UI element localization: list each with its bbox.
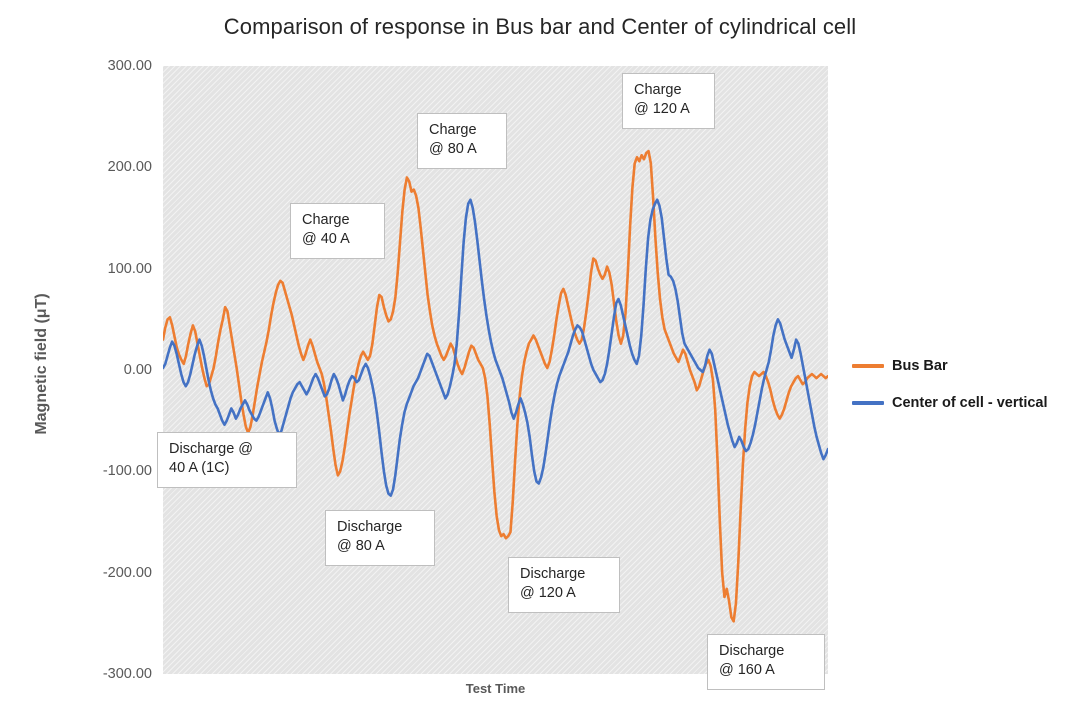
chart-container: Comparison of response in Bus bar and Ce…: [0, 0, 1080, 723]
chart-legend: Bus BarCenter of cell - vertical: [852, 358, 1078, 432]
y-axis-tick-label: -300.00: [76, 666, 152, 682]
chart-title: Comparison of response in Bus bar and Ce…: [0, 14, 1080, 40]
x-axis-title: Test Time: [163, 681, 828, 696]
annotation-charge-120a: Charge @ 120 A: [622, 73, 715, 129]
annotation-charge-40a: Charge @ 40 A: [290, 203, 385, 259]
legend-swatch-icon: [852, 364, 884, 368]
legend-swatch-icon: [852, 401, 884, 405]
legend-item-center-of-cell[interactable]: Center of cell - vertical: [852, 395, 1078, 411]
y-axis-tick-label: 0.00: [76, 362, 152, 378]
series-line-bus-bar: [163, 151, 828, 621]
y-axis-tick-label: 300.00: [76, 58, 152, 74]
y-axis-tick-labels: 300.00200.00100.000.00-100.00-200.00-300…: [76, 0, 152, 723]
legend-item-bus-bar[interactable]: Bus Bar: [852, 358, 1078, 374]
annotation-charge-80a: Charge @ 80 A: [417, 113, 507, 169]
annotation-discharge-40a: Discharge @ 40 A (1C): [157, 432, 297, 488]
y-axis-tick-label: 100.00: [76, 261, 152, 277]
annotation-discharge-120a: Discharge @ 120 A: [508, 557, 620, 613]
legend-label: Bus Bar: [892, 358, 948, 374]
y-axis-tick-label: -200.00: [76, 565, 152, 581]
annotation-discharge-80a: Discharge @ 80 A: [325, 510, 435, 566]
y-axis-tick-label: -100.00: [76, 463, 152, 479]
legend-label: Center of cell - vertical: [892, 395, 1048, 411]
y-axis-tick-label: 200.00: [76, 159, 152, 175]
y-axis-title: Magnetic field (μT): [33, 234, 51, 494]
